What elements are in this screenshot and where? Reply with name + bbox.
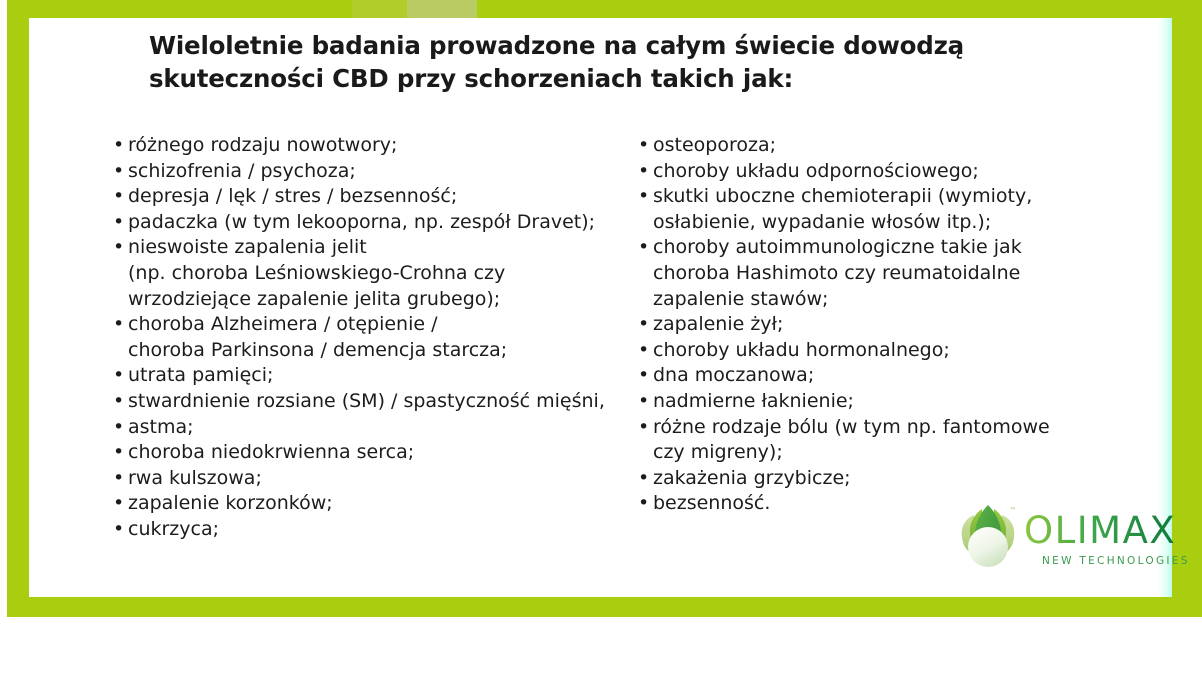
list-item: zapalenie korzonków;	[113, 491, 633, 517]
list-item: zapalenie żył;	[638, 312, 1088, 338]
list-item: astma;	[113, 415, 633, 441]
list-item: choroba niedokrwienna serca;	[113, 440, 633, 466]
page-title-line-2: skuteczności CBD przy schorzeniach takic…	[149, 62, 949, 95]
page-title: Wieloletnie badania prowadzone na całym …	[149, 29, 949, 95]
list-item: choroby układu odpornościowego;	[638, 159, 1088, 185]
list-item: różnego rodzaju nowotwory;	[113, 133, 633, 159]
list-item: różne rodzaje bólu (w tym np. fantomowe	[638, 415, 1088, 441]
list-item: osłabienie, wypadanie włosów itp.);	[638, 210, 1088, 236]
page-title-line-1: Wieloletnie badania prowadzone na całym …	[149, 29, 949, 62]
list-item: choroby autoimmunologiczne takie jak	[638, 235, 1088, 261]
trademark-symbol: ™	[1010, 507, 1016, 514]
condition-list-right: osteoporoza;choroby układu odpornościowe…	[638, 133, 1088, 517]
list-item: nadmierne łaknienie;	[638, 389, 1088, 415]
list-item: choroba Hashimoto czy reumatoidalne	[638, 261, 1088, 287]
list-item: czy migreny);	[638, 440, 1088, 466]
list-item: nieswoiste zapalenia jelit	[113, 235, 633, 261]
list-item: zakażenia grzybicze;	[638, 466, 1088, 492]
list-item: choroba Alzheimera / otępienie /	[113, 312, 633, 338]
olimax-wordmark: OLIMAX	[1024, 511, 1176, 551]
list-item: rwa kulszowa;	[113, 466, 633, 492]
list-item: wrzodziejące zapalenie jelita grubego);	[113, 287, 633, 313]
frame-highlight-patch-a	[352, 0, 407, 18]
list-item: padaczka (w tym lekooporna, np. zespół D…	[113, 210, 633, 236]
list-item: choroba Parkinsona / demencja starcza;	[113, 338, 633, 364]
list-item: (np. choroba Leśniowskiego-Crohna czy	[113, 261, 633, 287]
condition-list-left: różnego rodzaju nowotwory;schizofrenia /…	[113, 133, 633, 543]
frame-highlight-patch-b	[407, 0, 477, 18]
list-item: cukrzyca;	[113, 517, 633, 543]
olimax-tagline: NEW TECHNOLOGIES	[1042, 555, 1190, 567]
list-item: zapalenie stawów;	[638, 287, 1088, 313]
list-item: stwardnienie rozsiane (SM) / spastycznoś…	[113, 389, 633, 415]
list-item: depresja / lęk / stres / bezsenność;	[113, 184, 633, 210]
list-item: schizofrenia / psychoza;	[113, 159, 633, 185]
list-item: osteoporoza;	[638, 133, 1088, 159]
list-item: choroby układu hormonalnego;	[638, 338, 1088, 364]
list-item: skutki uboczne chemioterapii (wymioty,	[638, 184, 1088, 210]
list-item: utrata pamięci;	[113, 363, 633, 389]
olimax-logo: ™ OLIMAX NEW TECHNOLOGIES	[952, 503, 1167, 581]
list-item: dna moczanowa;	[638, 363, 1088, 389]
